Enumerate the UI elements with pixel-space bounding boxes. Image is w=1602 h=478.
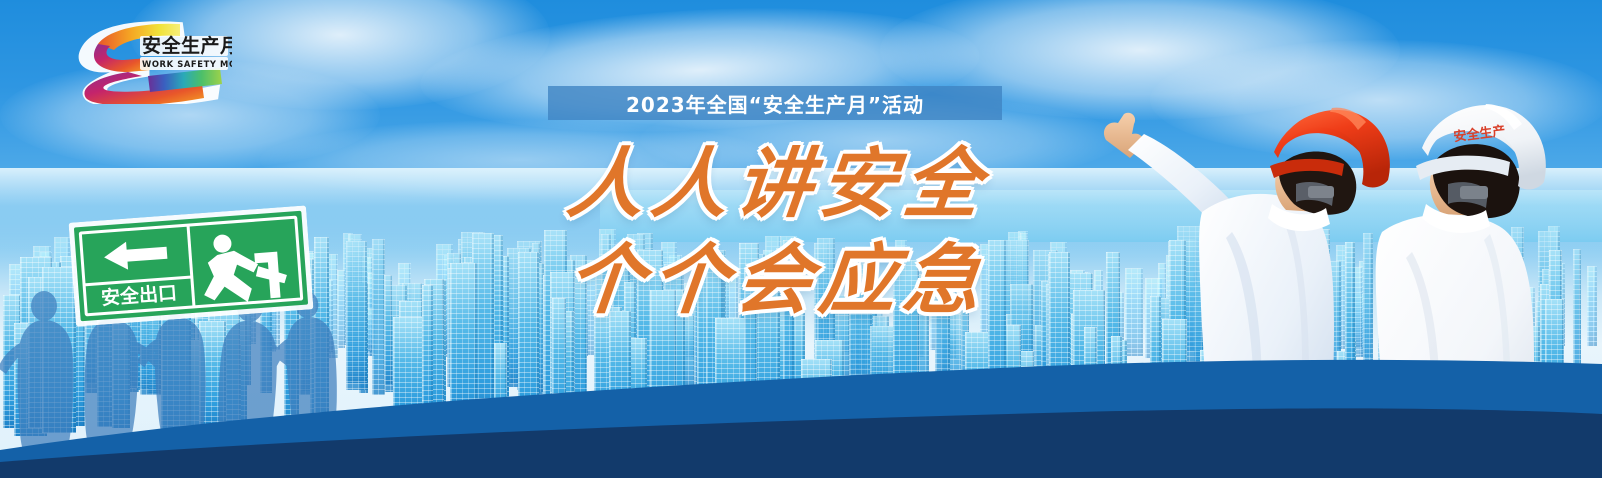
logo-english-text: WORK SAFETY MONTH <box>142 59 232 69</box>
subtitle-text: 2023年全国“安全生产月”活动 <box>626 89 924 118</box>
bottom-wave-decoration <box>0 358 1602 478</box>
work-safety-month-logo: 安全生产月 WORK SAFETY MONTH <box>62 18 232 104</box>
headline-line-2: 个个会应急 <box>543 232 1013 328</box>
safety-month-banner: 安全出口 <box>0 0 1602 478</box>
headline-line-1: 人人讲安全 <box>543 136 1013 232</box>
logo-text-group: 安全生产月 WORK SAFETY MONTH <box>140 34 232 70</box>
headline-group: 2023年全国“安全生产月”活动 人人讲安全 个个会应急 <box>548 86 1008 328</box>
subtitle-bar: 2023年全国“安全生产月”活动 <box>548 86 1002 120</box>
main-headline: 人人讲安全 个个会应急 <box>548 136 1008 328</box>
logo-chinese-text: 安全生产月 <box>142 34 232 57</box>
emergency-exit-sign: 安全出口 <box>69 205 314 326</box>
